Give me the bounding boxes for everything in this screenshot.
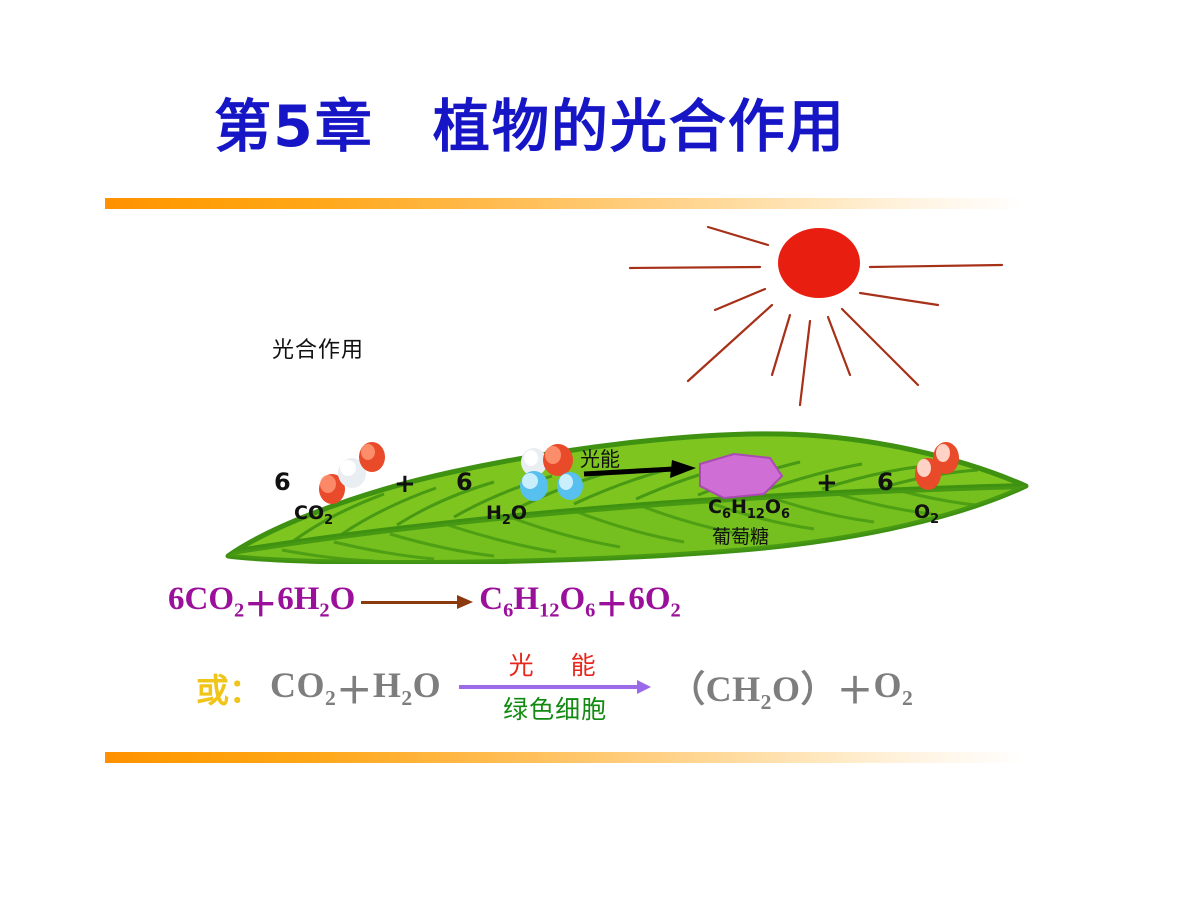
eq2-reactant-h2o: H2O <box>373 664 441 711</box>
h2o-coefficient: 6 <box>456 468 473 496</box>
eq2-product-carbohydrate: （CH2O） <box>669 660 837 715</box>
leaf-diagram: 6 CO2 + 6 H2O 光能 C6H12O6 葡萄糖 + 6 O2 <box>222 424 1032 564</box>
co2-label: CO2 <box>294 502 333 528</box>
eq1-product-glucose: C6H12O6 <box>479 581 595 623</box>
eq1-plus-1: ＋ <box>244 578 277 626</box>
slide-canvas: 第5章 植物的光合作用 光合作用 <box>0 0 1200 900</box>
o2-label: O2 <box>914 501 939 527</box>
eq2-condition-light: 光 能 <box>509 652 602 680</box>
glucose-formula-label: C6H12O6 <box>708 496 790 522</box>
eq2-reaction-arrow-icon <box>459 681 651 693</box>
eq1-reactant-h2o: 6H2O <box>277 581 355 623</box>
page-title: 第5章 植物的光合作用 <box>0 98 1060 158</box>
equation-balanced: 6CO2 ＋ 6H2O C6H12O6 ＋ 6O2 <box>168 580 681 624</box>
divider-bottom <box>105 752 1025 763</box>
photosynthesis-caption: 光合作用 <box>272 332 364 364</box>
eq1-product-o2: 6O2 <box>628 581 680 623</box>
leaf-plus-1: + <box>394 469 416 499</box>
eq2-condition-group: 光 能 绿色细胞 <box>455 648 655 728</box>
sun-rays-icon <box>620 205 1010 415</box>
equation-general: 或： CO2 ＋ H2O 光 能 绿色细胞 （CH2O） ＋ O2 <box>196 648 913 728</box>
eq1-plus-2: ＋ <box>595 578 628 626</box>
eq1-reaction-arrow-icon <box>361 592 473 612</box>
light-energy-label: 光能 <box>580 443 620 472</box>
h2o-label: H2O <box>486 502 527 528</box>
glucose-chinese-label: 葡萄糖 <box>712 522 769 549</box>
eq2-plus-1: ＋ <box>336 662 373 714</box>
eq2-condition-green-cell: 绿色细胞 <box>503 695 607 725</box>
sun-illustration <box>620 205 1010 415</box>
eq2-reactant-co2: CO2 <box>270 664 336 711</box>
eq2-plus-2: ＋ <box>837 662 874 714</box>
leaf-shape-icon <box>222 424 1032 564</box>
eq2-or-label: 或： <box>196 664 262 712</box>
co2-coefficient: 6 <box>274 468 291 496</box>
eq2-product-o2: O2 <box>873 664 913 711</box>
leaf-plus-2: + <box>816 468 838 498</box>
eq1-reactant-co2: 6CO2 <box>168 581 244 623</box>
o2-coefficient: 6 <box>877 468 894 496</box>
